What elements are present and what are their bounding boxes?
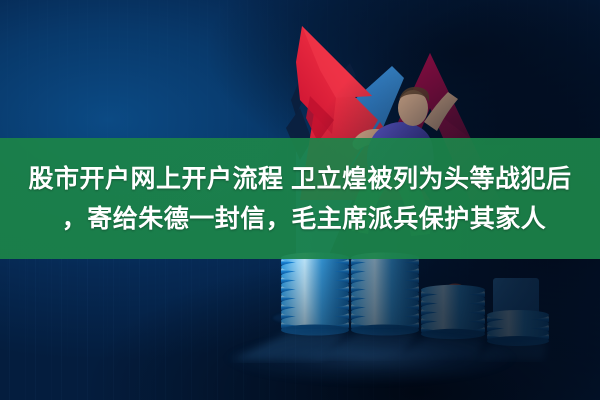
floor-glow — [180, 330, 560, 400]
page-title: 股市开户网上开户流程 卫立煌被列为头等战犯后 ，寄给朱德一封信，毛主席派兵保护其… — [0, 138, 600, 259]
promo-banner-image: 股市开户网上开户流程 卫立煌被列为头等战犯后 ，寄给朱德一封信，毛主席派兵保护其… — [0, 0, 600, 400]
title-line-1: 股市开户网上开户流程 卫立煌被列为头等战犯后 — [29, 160, 572, 198]
title-line-2: ，寄给朱德一封信，毛主席派兵保护其家人 — [54, 200, 547, 238]
